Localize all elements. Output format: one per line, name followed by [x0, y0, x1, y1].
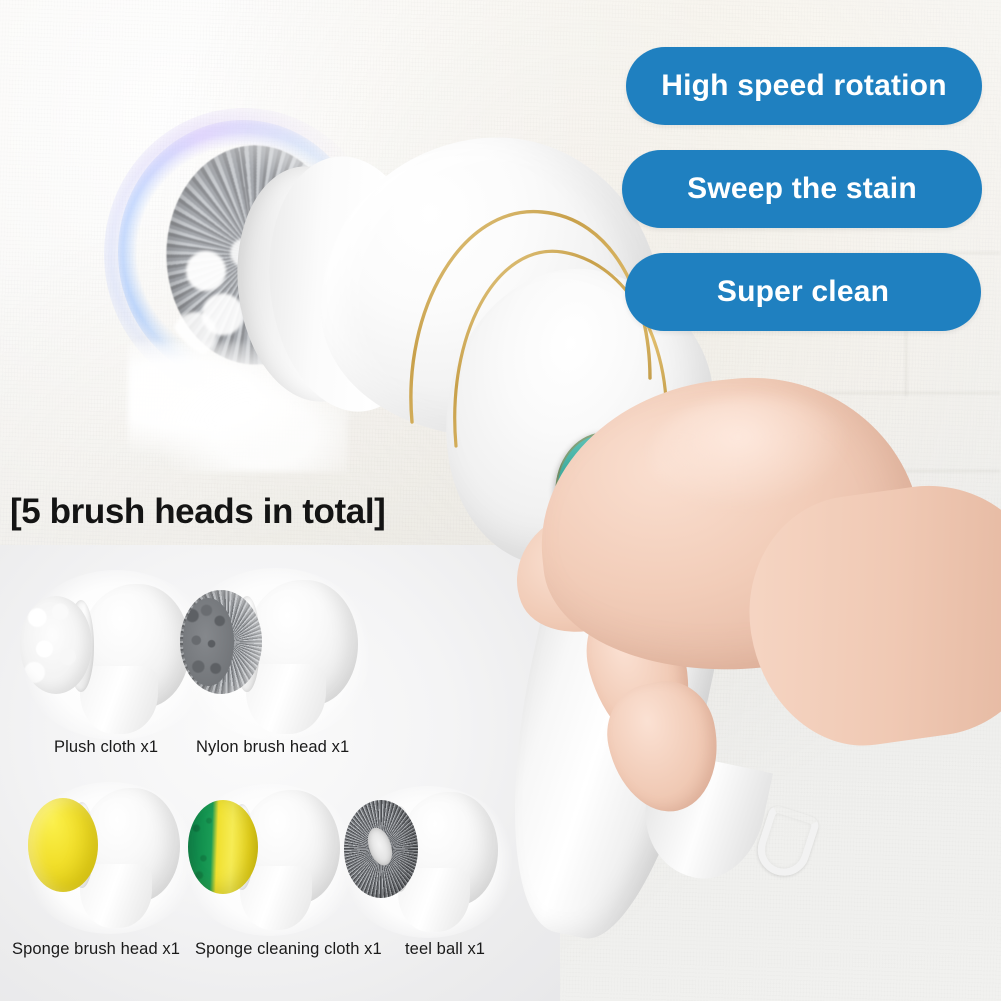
accessory-pad [28, 798, 98, 892]
accessory-label-plush-cloth: Plush cloth x1 [54, 738, 158, 757]
badge-label: Super clean [717, 275, 889, 309]
badge-sweep-the-stain[interactable]: Sweep the stain [622, 150, 982, 228]
accessory-steel-ball[interactable] [338, 786, 518, 938]
knuckle-highlight [650, 396, 860, 516]
accessory-sponge-cleaning-cloth[interactable] [180, 784, 360, 936]
badge-high-speed-rotation[interactable]: High speed rotation [626, 47, 982, 125]
accessory-sponge-brush-head[interactable] [20, 782, 200, 934]
badge-label: High speed rotation [661, 69, 946, 103]
accessory-label-sponge-brush-head: Sponge brush head x1 [12, 940, 180, 959]
accessory-label-steel-ball: teel ball x1 [405, 940, 485, 959]
accessory-nylon-brush-head[interactable] [176, 568, 376, 740]
accessory-pad [20, 596, 92, 694]
product-marketing-image: [5 brush heads in total] High speed rota… [0, 0, 1001, 1001]
badge-super-clean[interactable]: Super clean [625, 253, 981, 331]
accessory-pad [344, 800, 418, 898]
accessory-pad [180, 590, 262, 694]
page-title: [5 brush heads in total] [10, 492, 385, 532]
badge-label: Sweep the stain [687, 172, 917, 206]
accessory-pad [188, 800, 258, 894]
accessory-label-sponge-cleaning-cloth: Sponge cleaning cloth x1 [195, 940, 382, 959]
accessory-label-nylon-brush-head: Nylon brush head x1 [196, 738, 349, 757]
hand [500, 350, 970, 910]
